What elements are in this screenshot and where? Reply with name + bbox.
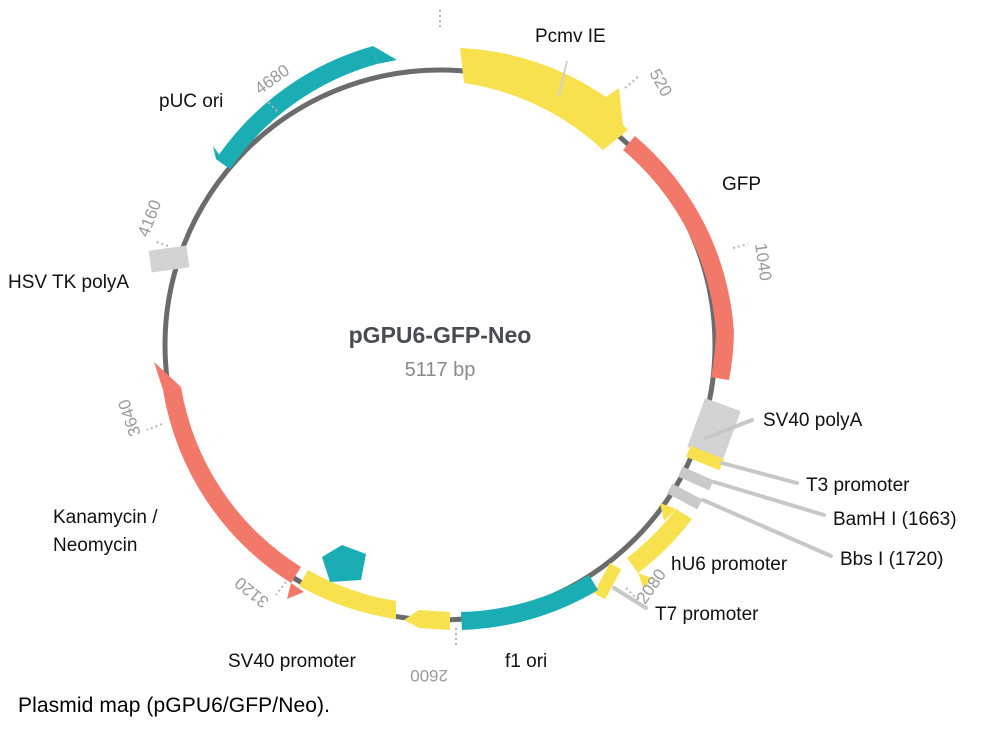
plasmid-circular-map: 520 1040 2080 2600 3120 3640 4160 4680 P…	[0, 0, 982, 690]
center-plasmid-name: pGPU6-GFP-Neo	[349, 322, 532, 348]
label-kanamycin-line2: Neomycin	[53, 535, 137, 556]
label-kanamycin-line1: Kanamycin /	[53, 507, 158, 528]
small-teal-pentagon-marker[interactable]	[322, 545, 366, 582]
leader-bbs-i	[703, 500, 831, 556]
tick-label-1040: 1040	[751, 242, 775, 282]
tick-line-3120	[276, 582, 286, 595]
pcmv-ie-arrow[interactable]	[460, 48, 628, 150]
unnamed-arrow-body[interactable]	[419, 610, 450, 630]
feature-kanamycin-neomycin[interactable]	[154, 362, 304, 599]
tick-label-2600: 2600	[410, 666, 448, 685]
tick-label-3120: 3120	[231, 573, 272, 612]
label-bbs-i: Bbs I (1720)	[840, 549, 944, 570]
tick-label-4160: 4160	[134, 197, 165, 239]
label-puc-ori: pUC ori	[159, 91, 223, 112]
feature-pcmv-ie[interactable]	[460, 48, 628, 150]
label-t7-promoter: T7 promoter	[655, 604, 759, 625]
unnamed-arrow-head	[404, 610, 419, 628]
label-t3-promoter: T3 promoter	[806, 475, 910, 496]
tick-line-4160	[154, 241, 168, 246]
gfp-arrow[interactable]	[623, 136, 734, 380]
figure-caption: Plasmid map (pGPU6/GFP/Neo).	[18, 694, 330, 718]
tick-line-1040	[733, 244, 748, 248]
feature-hsv-tk-polya-box[interactable]	[149, 245, 190, 272]
tick-line-520	[625, 76, 639, 88]
label-hu6-promoter: hU6 promoter	[671, 554, 788, 575]
tick-label-3640: 3640	[115, 397, 145, 439]
plasmid-map-figure: 520 1040 2080 2600 3120 3640 4160 4680 P…	[0, 0, 982, 690]
label-hsv-tk-polya: HSV TK polyA	[8, 272, 129, 293]
feature-gfp[interactable]	[623, 136, 734, 380]
feature-f1-ori-arc[interactable]	[461, 575, 598, 630]
tick-label-520: 520	[646, 66, 676, 100]
leader-t3-promoter	[722, 463, 797, 483]
label-pcmv-ie: Pcmv IE	[535, 26, 606, 47]
label-gfp: GFP	[722, 174, 761, 195]
feature-unnamed-yellow-arrow[interactable]	[404, 610, 450, 630]
label-sv40-polya: SV40 polyA	[763, 410, 863, 431]
kanamycin-arrow-body[interactable]	[163, 387, 301, 583]
puc-ori-arrow-head	[373, 46, 397, 64]
center-plasmid-length: 5117 bp	[405, 359, 476, 381]
label-sv40-promoter: SV40 promoter	[228, 651, 356, 672]
label-f1-ori: f1 ori	[505, 651, 547, 672]
label-bamh-i: BamH I (1663)	[833, 509, 957, 530]
feature-bamhi-site[interactable]	[678, 467, 714, 491]
tick-line-3640	[147, 424, 162, 430]
